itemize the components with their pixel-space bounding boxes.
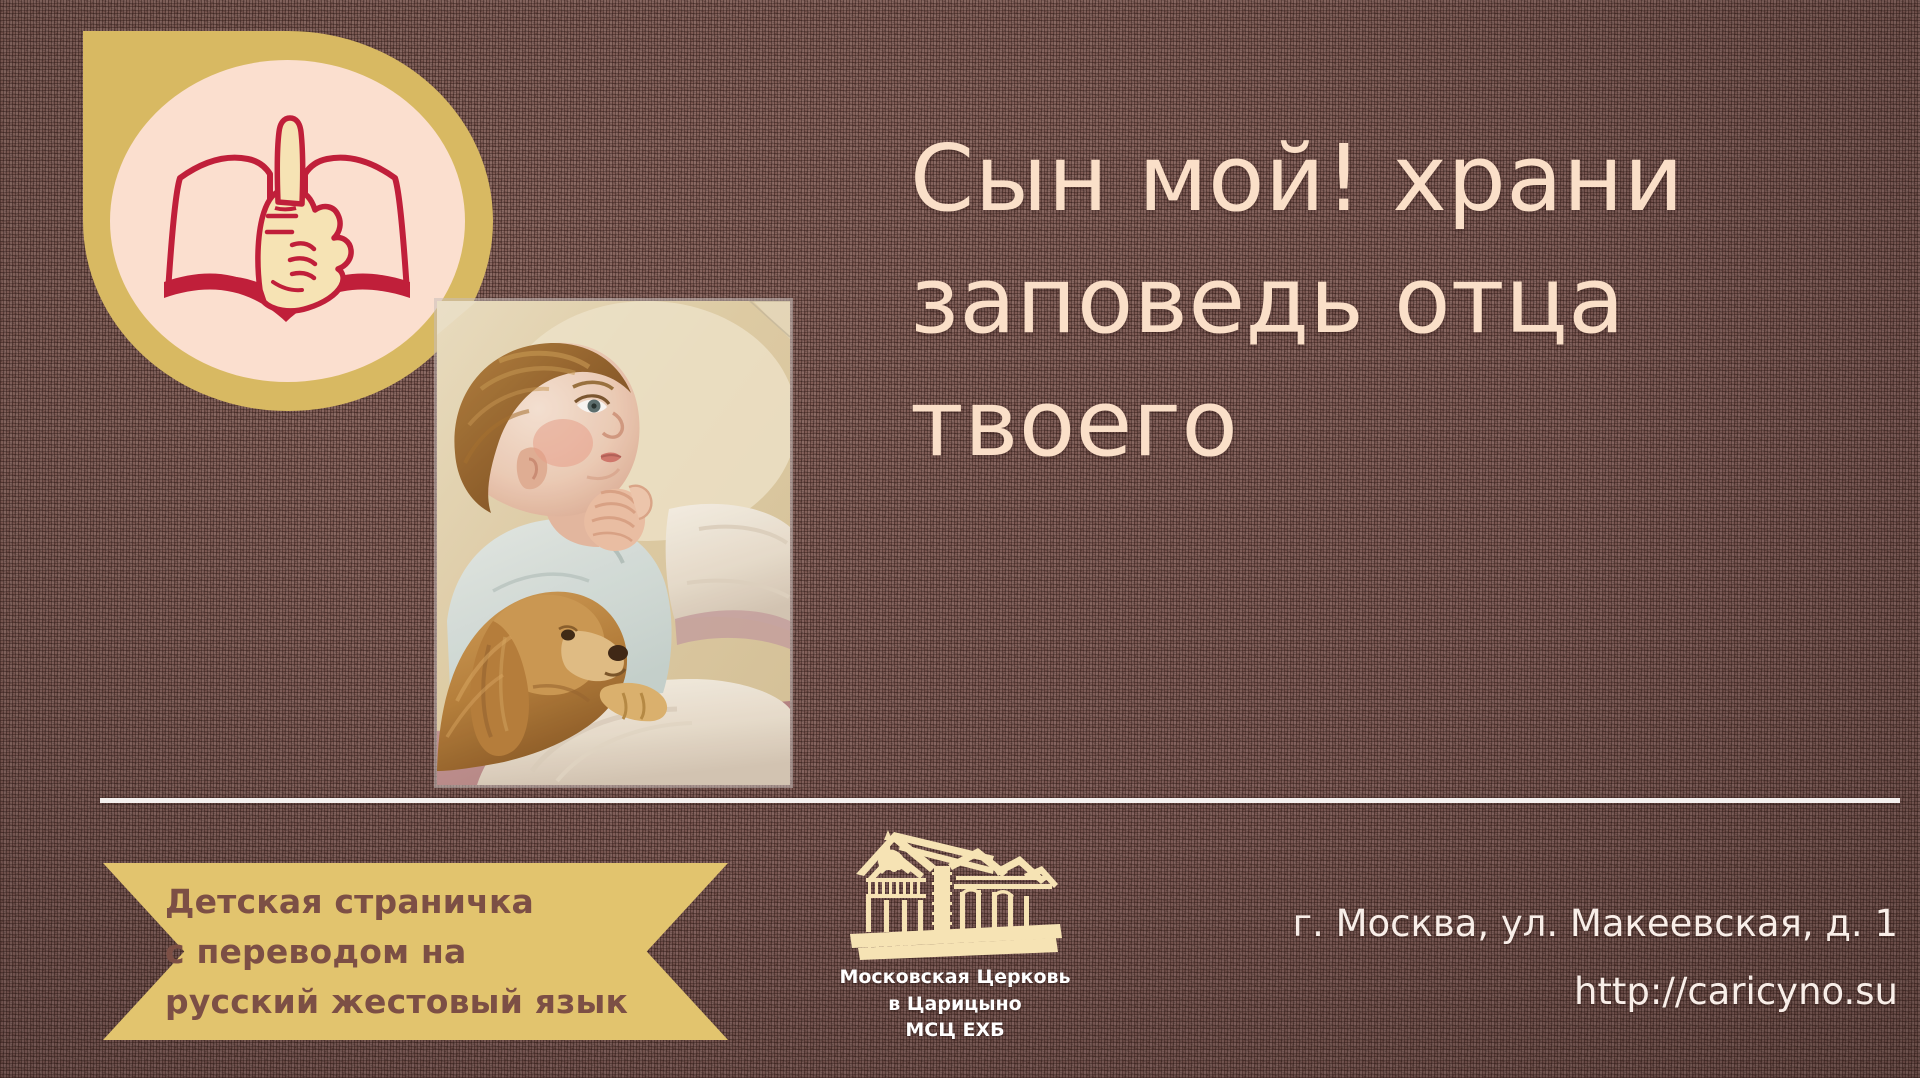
church-building-icon xyxy=(844,822,1066,960)
church-name-text: Московская Церковь в Царицыно МСЦ ЕХБ xyxy=(830,964,1080,1044)
church-line-2: в Царицыно xyxy=(830,991,1080,1018)
horizontal-divider xyxy=(100,798,1900,803)
title-line-2: заповедь отца xyxy=(910,240,1870,362)
website-url-link[interactable]: http://caricyno.su xyxy=(1198,958,1898,1026)
church-line-3: МСЦ ЕХБ xyxy=(830,1017,1080,1044)
praying-child-illustration xyxy=(437,301,790,785)
banner-text: Детская страничка с переводом на русский… xyxy=(165,877,685,1027)
contact-block: г. Москва, ул. Макеевская, д. 1 http://c… xyxy=(1198,890,1898,1027)
title-line-3: твоего xyxy=(910,363,1870,485)
address-text: г. Москва, ул. Макеевская, д. 1 xyxy=(1198,890,1898,958)
title-line-1: Сын мой! храни xyxy=(910,118,1870,240)
open-book-hand-icon xyxy=(110,60,465,382)
slide-canvas: Сын мой! храни заповедь отца твоего Детс… xyxy=(0,0,1920,1078)
church-logo-block: Московская Церковь в Царицыно МСЦ ЕХБ xyxy=(830,822,1080,1044)
praying-child-photo xyxy=(437,301,790,785)
childrens-page-banner: Детская страничка с переводом на русский… xyxy=(103,863,728,1040)
church-line-1: Московская Церковь xyxy=(830,964,1080,991)
deaf-ministry-emblem xyxy=(83,31,493,411)
banner-line-2: с переводом на xyxy=(165,927,685,977)
page-title: Сын мой! храни заповедь отца твоего xyxy=(910,118,1870,485)
banner-line-1: Детская страничка xyxy=(165,877,685,927)
banner-line-3: русский жестовый язык xyxy=(165,977,685,1027)
